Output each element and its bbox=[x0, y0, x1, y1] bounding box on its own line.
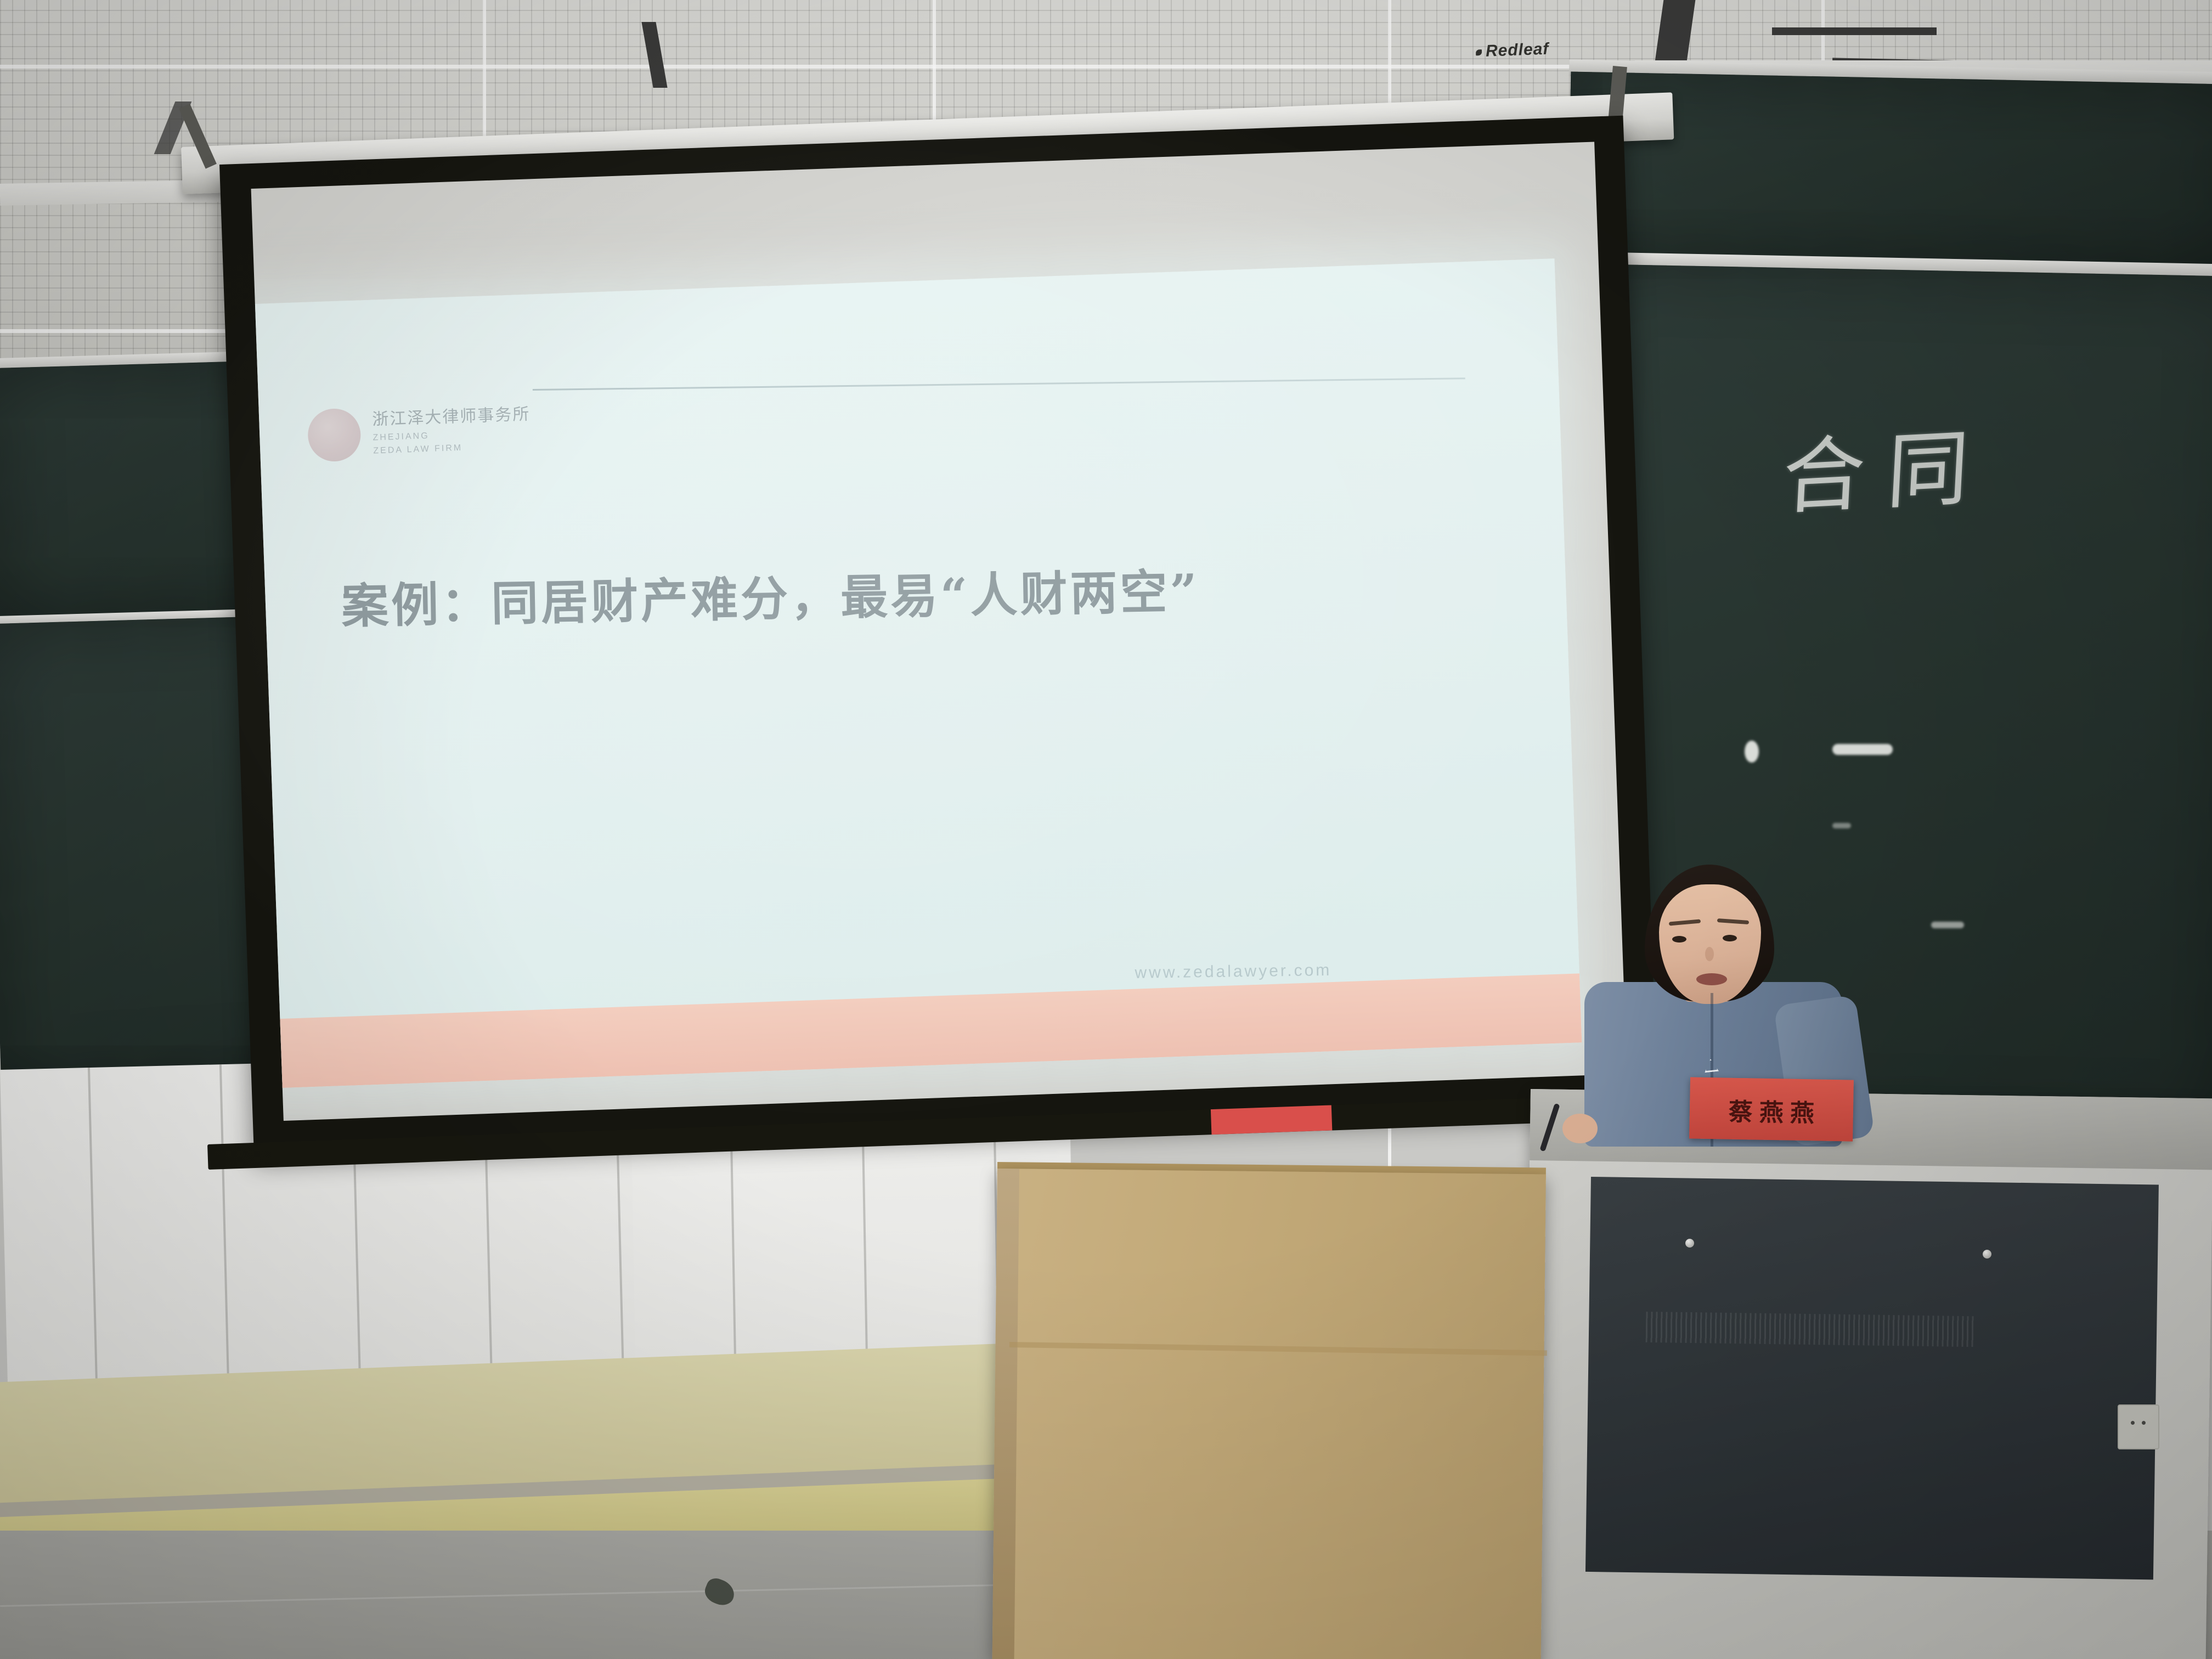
firm-name-cn: 浙江泽大律师事务所 bbox=[372, 405, 531, 430]
firm-name-en-line2: ZEDA LAW FIRM bbox=[373, 441, 531, 456]
slide-accent-band bbox=[251, 973, 1582, 1089]
lectern[interactable] bbox=[992, 1169, 1546, 1659]
screen-pull-tab bbox=[1211, 1105, 1332, 1135]
projector-screen-surface: 浙江泽大律师事务所 ZHEJIANG ZEDA LAW FIRM 案例：同居财产… bbox=[251, 142, 1627, 1121]
speaker-eye-left bbox=[1672, 936, 1686, 943]
projected-slide: 浙江泽大律师事务所 ZHEJIANG ZEDA LAW FIRM 案例：同居财产… bbox=[251, 258, 1582, 1089]
projector-screen: 浙江泽大律师事务所 ZHEJIANG ZEDA LAW FIRM 案例：同居财产… bbox=[219, 116, 1657, 1152]
chalk-smudge bbox=[1832, 744, 1893, 755]
wall-gap bbox=[1772, 27, 1937, 35]
slide-website-url: www.zedalawyer.com bbox=[1135, 961, 1331, 983]
slide-logo: 浙江泽大律师事务所 ZHEJIANG ZEDA LAW FIRM bbox=[307, 402, 532, 462]
classroom-photo: 合同 Redleaf bbox=[0, 0, 2212, 1659]
speaker-name: 蔡燕燕 bbox=[1722, 1092, 1821, 1128]
panel-screw-icon bbox=[1685, 1239, 1694, 1248]
leaf-icon bbox=[1476, 49, 1482, 55]
slide-title: 案例：同居财产难分，最易“人财两空” bbox=[341, 553, 1200, 636]
panel-screw-icon bbox=[1983, 1250, 1991, 1259]
speaker-eye-right bbox=[1723, 935, 1737, 941]
speaker-nameplate: 蔡燕燕 bbox=[1689, 1077, 1854, 1141]
speaker-mouth bbox=[1696, 973, 1727, 985]
chalk-smudge bbox=[1745, 741, 1759, 763]
chalk-smudge bbox=[1931, 922, 1964, 928]
av-console-vent bbox=[1646, 1312, 1976, 1347]
slide-divider-rule bbox=[533, 377, 1465, 391]
screen-brand-label: Redleaf bbox=[1475, 40, 1549, 61]
firm-name-en-line1: ZHEJIANG bbox=[373, 427, 531, 443]
firm-seal-icon bbox=[307, 408, 362, 462]
speaker-hand bbox=[1562, 1114, 1598, 1143]
av-console-panel[interactable] bbox=[1585, 1177, 2159, 1579]
power-outlet[interactable] bbox=[2118, 1404, 2159, 1449]
chalk-smudge bbox=[1832, 823, 1851, 828]
speaker-nose bbox=[1705, 947, 1714, 961]
